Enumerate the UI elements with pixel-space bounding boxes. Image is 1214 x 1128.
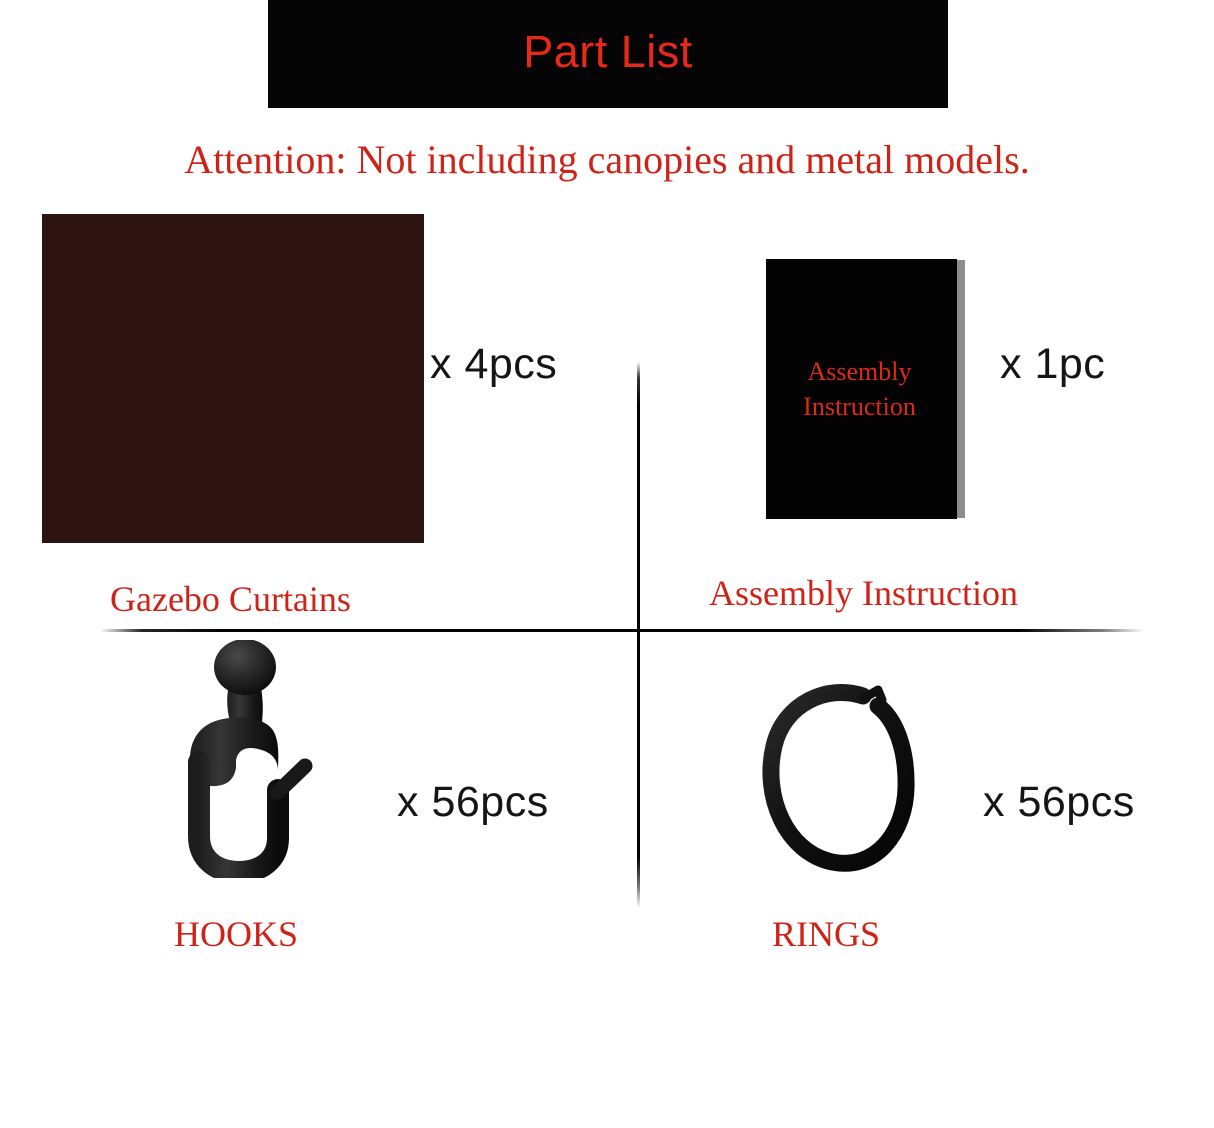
quantity-rings: x 56pcs — [983, 778, 1135, 827]
vertical-divider-bottom — [637, 630, 640, 908]
quantity-gazebo-curtains: x 4pcs — [430, 340, 557, 389]
quantity-assembly-instruction: x 1pc — [1000, 340, 1105, 389]
quantity-hooks: x 56pcs — [397, 778, 549, 827]
booklet-spine — [957, 260, 965, 518]
title-banner: Part List — [268, 0, 948, 108]
page-title: Part List — [523, 29, 693, 74]
caption-gazebo-curtains: Gazebo Curtains — [110, 578, 351, 620]
caption-rings: RINGS — [772, 913, 880, 955]
booklet-title-line-1: Assembly — [803, 354, 916, 389]
instruction-booklet-icon: Assembly Instruction — [766, 259, 965, 519]
caption-assembly-instruction: Assembly Instruction — [709, 572, 1018, 614]
caption-hooks: HOOKS — [174, 913, 298, 955]
curtain-ring-icon — [756, 678, 922, 878]
curtain-hook-icon — [168, 640, 334, 878]
vertical-divider-top — [637, 362, 640, 632]
booklet-cover: Assembly Instruction — [766, 259, 957, 519]
attention-note: Attention: Not including canopies and me… — [0, 136, 1214, 183]
curtain-swatch-icon — [42, 214, 424, 543]
booklet-title-line-2: Instruction — [803, 389, 916, 424]
horizontal-divider — [100, 629, 1144, 632]
booklet-title: Assembly Instruction — [803, 354, 916, 424]
